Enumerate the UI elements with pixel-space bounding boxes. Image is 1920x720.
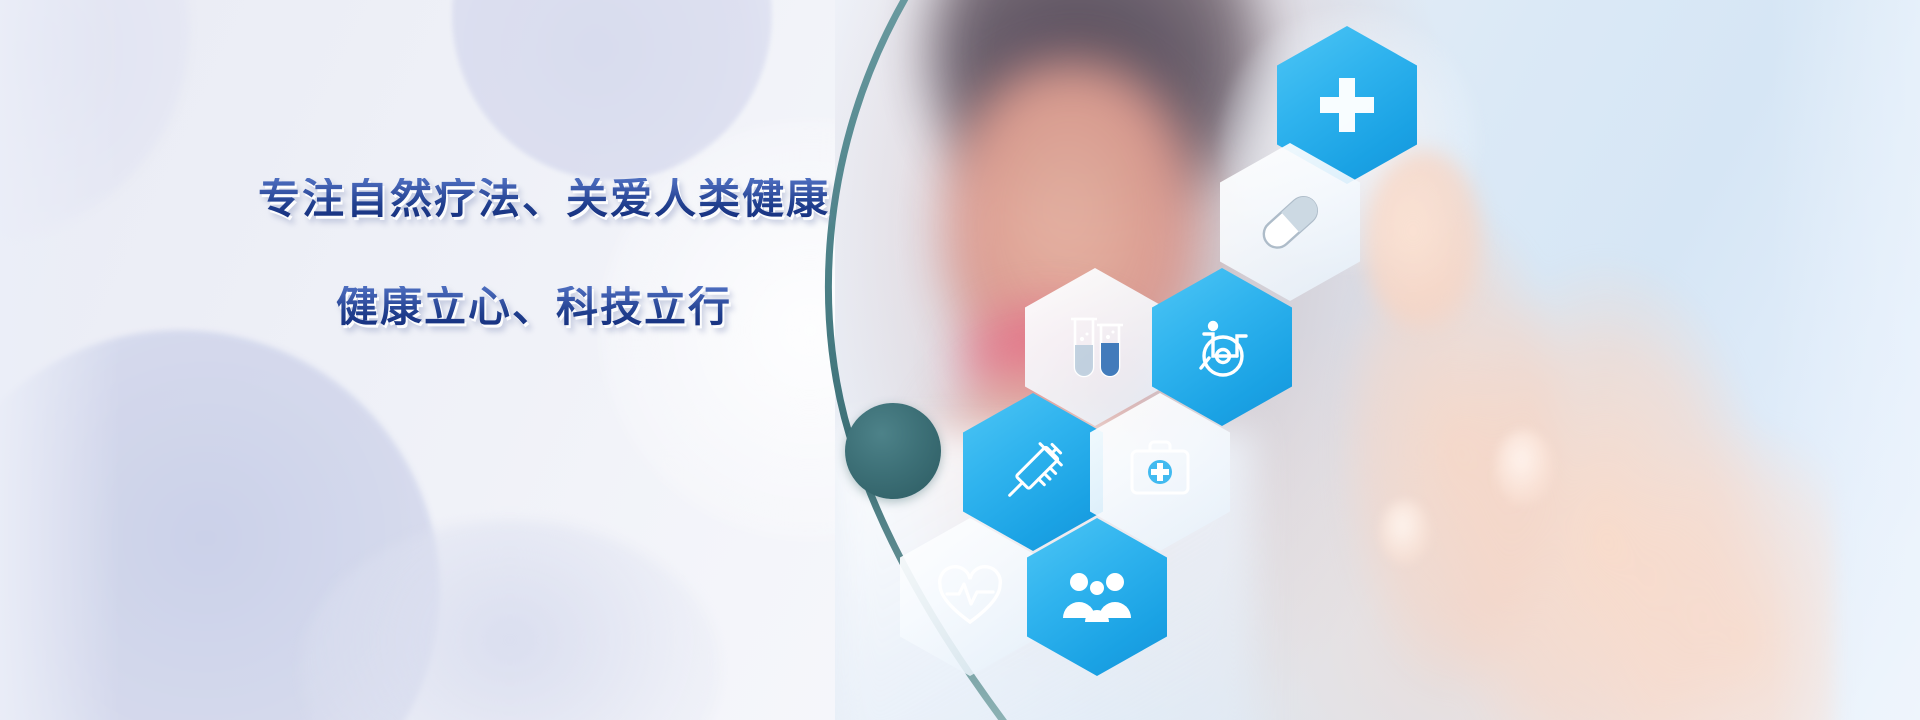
decorative-circle-left <box>0 0 190 240</box>
family-glyph <box>1059 568 1135 626</box>
first-aid-glyph <box>1124 439 1196 505</box>
banner-copy: 专注自然疗法、关爱人类健康 健康立心、科技立行 <box>258 178 898 328</box>
headline-line-2: 健康立心、科技立行 <box>336 286 898 328</box>
test-tube-glyph <box>1059 309 1131 385</box>
headline-line-1: 专注自然疗法、关爱人类健康 <box>258 178 898 220</box>
heart-glyph <box>934 564 1006 630</box>
decorative-circle-top <box>452 0 772 180</box>
hero-banner: 专注自然疗法、关爱人类健康 健康立心、科技立行 <box>0 0 1920 720</box>
wheelchair-glyph <box>1185 310 1259 384</box>
capsule-glyph <box>1251 183 1329 261</box>
decorative-circle-bottom-left <box>0 330 440 720</box>
left-edge-fade <box>0 0 120 720</box>
medical-icon-cluster <box>835 0 1920 720</box>
syringe-glyph <box>994 433 1072 511</box>
cross-glyph <box>1312 70 1382 140</box>
decorative-glow-bottom <box>300 520 720 720</box>
